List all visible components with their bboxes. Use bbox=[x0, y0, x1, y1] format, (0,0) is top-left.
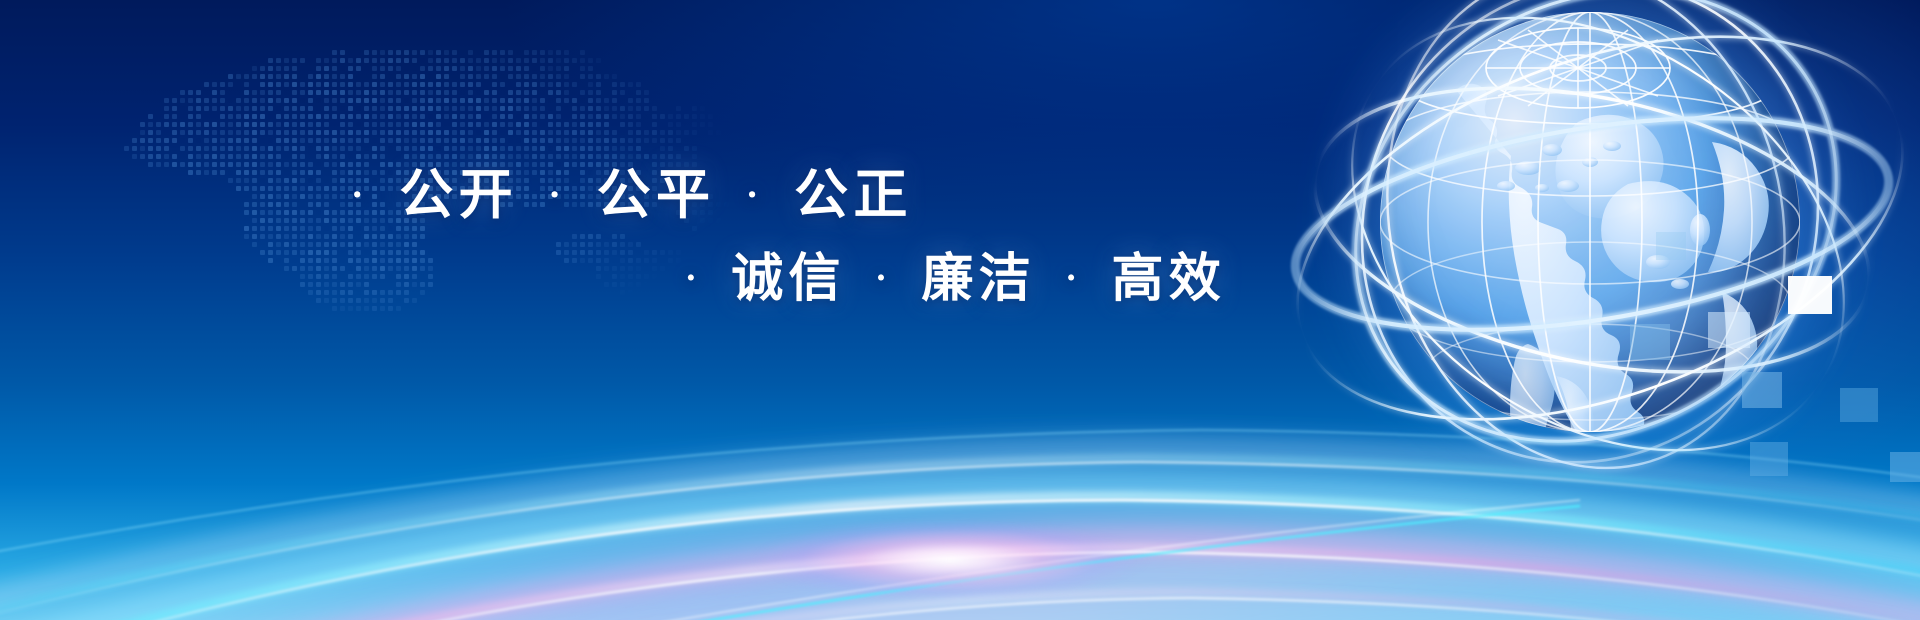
headline-word-gongkai: 公开 bbox=[396, 162, 521, 226]
headline-line-2: · 诚信 · 廉洁 · 高效 bbox=[682, 236, 1229, 311]
bullet-1-2: · bbox=[743, 175, 767, 214]
headline-word-gongzheng: 公正 bbox=[791, 162, 916, 226]
headline-block: · 公开 · 公平 · 公正 · 诚信 · 廉洁 · 高效 bbox=[0, 0, 1920, 620]
headline-word-lianjie: 廉洁 bbox=[918, 248, 1039, 309]
banner-root: · 公开 · 公平 · 公正 · 诚信 · 廉洁 · 高效 bbox=[0, 0, 1920, 620]
bullet-2-2: · bbox=[1062, 259, 1085, 297]
headline-word-gongping: 公平 bbox=[593, 162, 718, 226]
headline-word-gaoxiao: 高效 bbox=[1108, 248, 1229, 309]
bullet-1-1: · bbox=[545, 175, 569, 214]
headline-word-chengxin: 诚信 bbox=[728, 248, 849, 309]
headline-line-1: · 公开 · 公平 · 公正 bbox=[348, 150, 916, 229]
bullet-1-0: · bbox=[348, 175, 372, 214]
bullet-2-0: · bbox=[682, 259, 705, 297]
bullet-2-1: · bbox=[872, 259, 895, 297]
